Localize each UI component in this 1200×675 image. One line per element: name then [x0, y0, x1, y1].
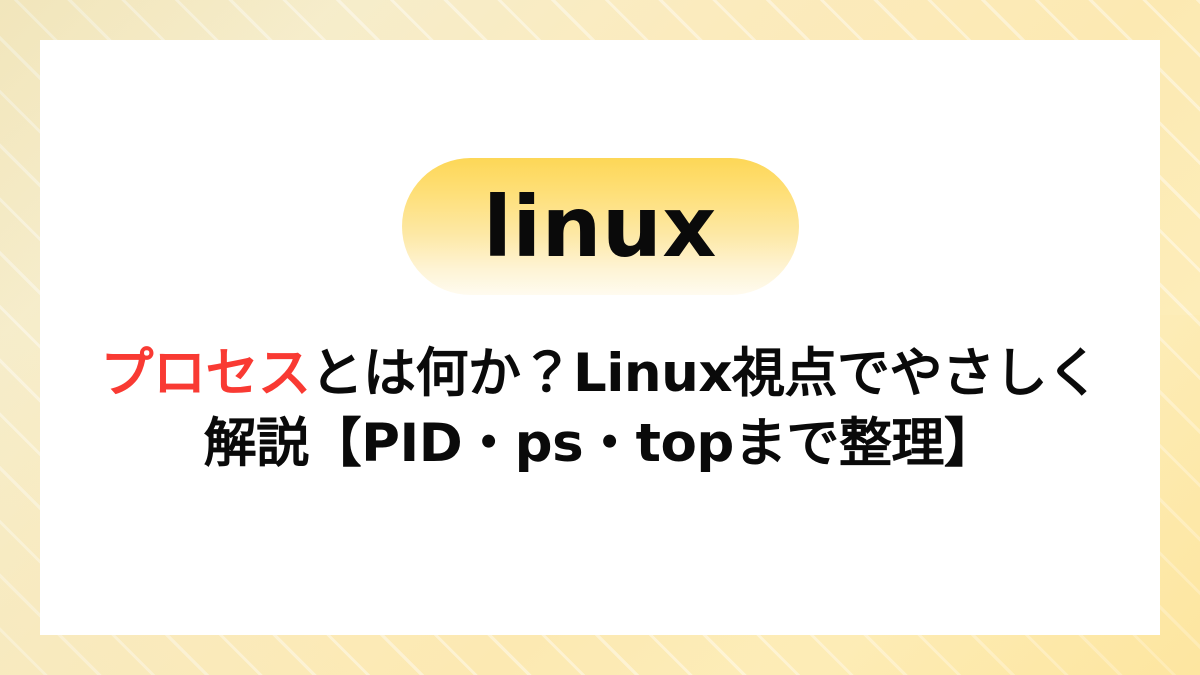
- category-badge[interactable]: linux: [402, 158, 799, 295]
- category-badge-label: linux: [483, 185, 717, 269]
- content-card: linux プロセスとは何か？Linux視点でやさしく 解説【PID・ps・to…: [40, 40, 1160, 635]
- page-title-highlight: プロセス: [100, 343, 310, 404]
- page-title-line-2: 解説【PID・ps・topまで整理】: [70, 409, 1130, 479]
- page-title-line-1: プロセスとは何か？Linux視点でやさしく: [70, 339, 1130, 409]
- thumbnail-canvas: linux プロセスとは何か？Linux視点でやさしく 解説【PID・ps・to…: [0, 0, 1200, 675]
- page-title-line-1-rest: とは何か？Linux視点でやさしく: [310, 343, 1099, 404]
- page-title: プロセスとは何か？Linux視点でやさしく 解説【PID・ps・topまで整理】: [70, 339, 1130, 479]
